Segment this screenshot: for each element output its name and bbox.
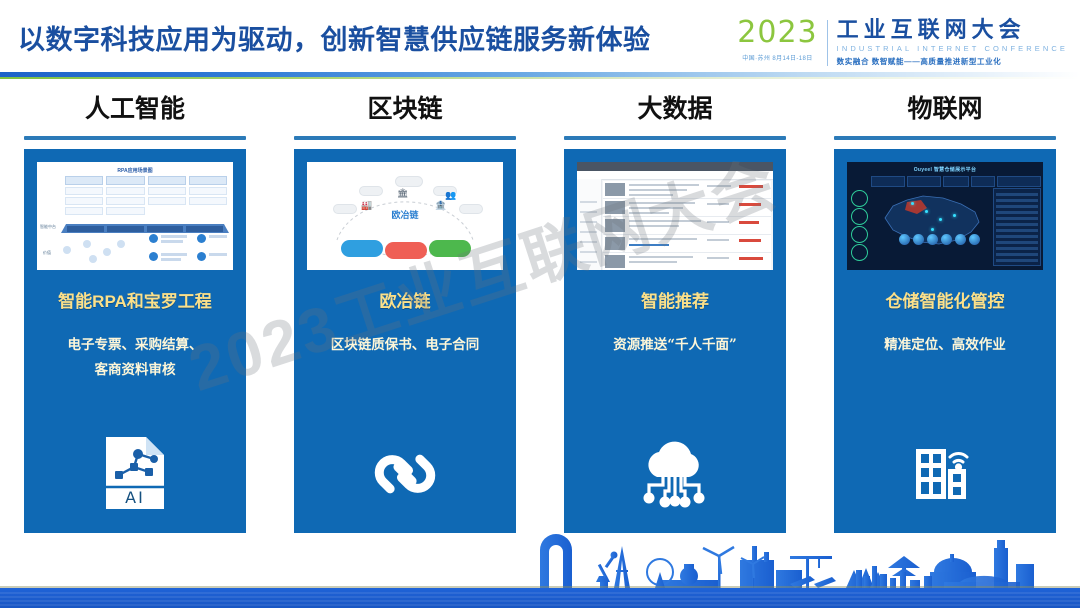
conference-logo: 2023 中国·苏州 8月14日-18日 工业互联网大会 INDUSTRIAL …	[737, 18, 1068, 76]
listing-row	[603, 217, 771, 235]
card-icon-wrap	[294, 437, 516, 511]
footer-skyline	[0, 530, 1080, 608]
card-icon-wrap	[564, 439, 786, 511]
logo-date-line: 中国·苏州 8月14日-18日	[742, 53, 812, 62]
rpa-people-cluster	[59, 236, 139, 264]
content-columns: 人工智能 RPA应用场景图	[0, 96, 1080, 536]
chain-link-icon	[368, 437, 442, 511]
card-description-line1: 电子专票、采购结算、	[35, 333, 235, 358]
card-icon-wrap: AI	[24, 435, 246, 511]
card-description: 电子专票、采购结算、 客商资料审核	[35, 333, 235, 383]
skyline-graphic	[0, 530, 1080, 608]
listing-row	[603, 199, 771, 217]
ai-file-icon: AI	[102, 435, 168, 511]
card-title: 智能RPA和宝罗工程	[58, 292, 212, 312]
rpa-diagram-title: RPA应用场景图	[37, 167, 233, 174]
card-icon-wrap	[834, 437, 1056, 511]
card-description-line1: 资源推送“千人千面”	[575, 333, 775, 358]
listing-row	[603, 181, 771, 199]
card-thumbnail: Ouyeel 智慧仓储展示平台	[847, 162, 1043, 270]
column-title: 大数据	[564, 96, 786, 130]
card-description-line1: 区块链质保书、电子合同	[305, 333, 505, 358]
card-thumbnail	[577, 162, 773, 270]
column-head-ai: 人工智能	[24, 96, 246, 140]
warehouse-signal-icon	[908, 437, 982, 511]
logo-name-en: INDUSTRIAL INTERNET CONFERENCE	[837, 44, 1068, 53]
dashboard-data-table	[993, 188, 1041, 266]
logo-name-cn: 工业互联网大会	[837, 18, 1068, 42]
card-description: 区块链质保书、电子合同	[305, 333, 505, 358]
column-underline	[834, 136, 1056, 140]
page-title: 以数字科技应用为驱动，创新智慧供应链服务新体验	[18, 18, 651, 57]
card-title: 智能推荐	[641, 292, 709, 312]
rpa-label-platform: 智能中台	[40, 224, 56, 230]
column-underline	[294, 136, 516, 140]
header-rule-green	[0, 77, 1080, 79]
column-underline	[24, 136, 246, 140]
column-head-bigdata: 大数据	[564, 96, 786, 140]
ai-file-icon-label: AI	[125, 488, 145, 507]
listing-row	[603, 253, 771, 270]
ouyeel-chain-ecosystem-diagram: 欧冶链 🏛 🏭 🏦 👥	[307, 162, 503, 270]
column-ai: 人工智能 RPA应用场景图	[0, 96, 270, 536]
column-head-iot: 物联网	[834, 96, 1056, 140]
product-listing-screenshot	[577, 162, 773, 270]
card-description-line1: 精准定位、高效作业	[845, 333, 1045, 358]
card-title: 欧冶链	[380, 292, 431, 312]
rpa-scenario-diagram: RPA应用场景图 智能中台 价值	[37, 162, 233, 270]
card-iot[interactable]: Ouyeel 智慧仓储展示平台	[834, 149, 1056, 533]
listing-topbar	[577, 162, 773, 171]
rpa-platform-bar	[61, 224, 229, 233]
card-blockchain[interactable]: 欧冶链 🏛 🏭 🏦 👥 欧冶链	[294, 149, 516, 533]
column-head-blockchain: 区块链	[294, 96, 516, 140]
column-underline	[564, 136, 786, 140]
card-description-line2: 客商资料审核	[35, 358, 235, 383]
china-map	[873, 188, 991, 250]
column-iot: 物联网 Ouyeel 智慧仓储展示平台	[810, 96, 1080, 536]
rpa-matrix	[65, 176, 227, 215]
card-ai[interactable]: RPA应用场景图 智能中台 价值	[24, 149, 246, 533]
card-description: 精准定位、高效作业	[845, 333, 1045, 358]
column-blockchain: 区块链 欧冶链 🏛	[270, 96, 540, 536]
card-description: 资源推送“千人千面”	[575, 333, 775, 358]
listing-row	[603, 235, 771, 253]
card-bigdata[interactable]: 智能推荐 资源推送“千人千面”	[564, 149, 786, 533]
logo-year-block: 2023 中国·苏州 8月14日-18日	[737, 18, 826, 62]
logo-year: 2023	[737, 18, 817, 48]
slide-root: 以数字科技应用为驱动，创新智慧供应链服务新体验 2023 中国·苏州 8月14日…	[0, 0, 1080, 608]
skyline-buildings	[540, 534, 1034, 588]
rpa-label-value: 价值	[43, 250, 51, 256]
column-title: 物联网	[834, 96, 1056, 130]
dashboard-title: Ouyeel 智慧仓储展示平台	[847, 166, 1043, 173]
card-title: 仓储智能化管控	[886, 292, 1005, 312]
card-thumbnail: RPA应用场景图 智能中台 价值	[37, 162, 233, 270]
column-title: 人工智能	[24, 96, 246, 130]
logo-tagline: 数实融合 数智赋能——高质量推进新型工业化	[837, 56, 1068, 67]
column-title: 区块链	[294, 96, 516, 130]
slide-header: 以数字科技应用为驱动，创新智慧供应链服务新体验 2023 中国·苏州 8月14日…	[0, 0, 1080, 88]
cloud-network-icon	[633, 439, 717, 511]
column-bigdata: 大数据	[540, 96, 810, 536]
card-thumbnail: 欧冶链 🏛 🏭 🏦 👥	[307, 162, 503, 270]
logo-name-block: 工业互联网大会 INDUSTRIAL INTERNET CONFERENCE 数…	[828, 18, 1068, 67]
listing-navbar	[577, 171, 773, 180]
listing-sidebar	[577, 179, 602, 270]
smart-warehouse-dashboard: Ouyeel 智慧仓储展示平台	[847, 162, 1043, 270]
